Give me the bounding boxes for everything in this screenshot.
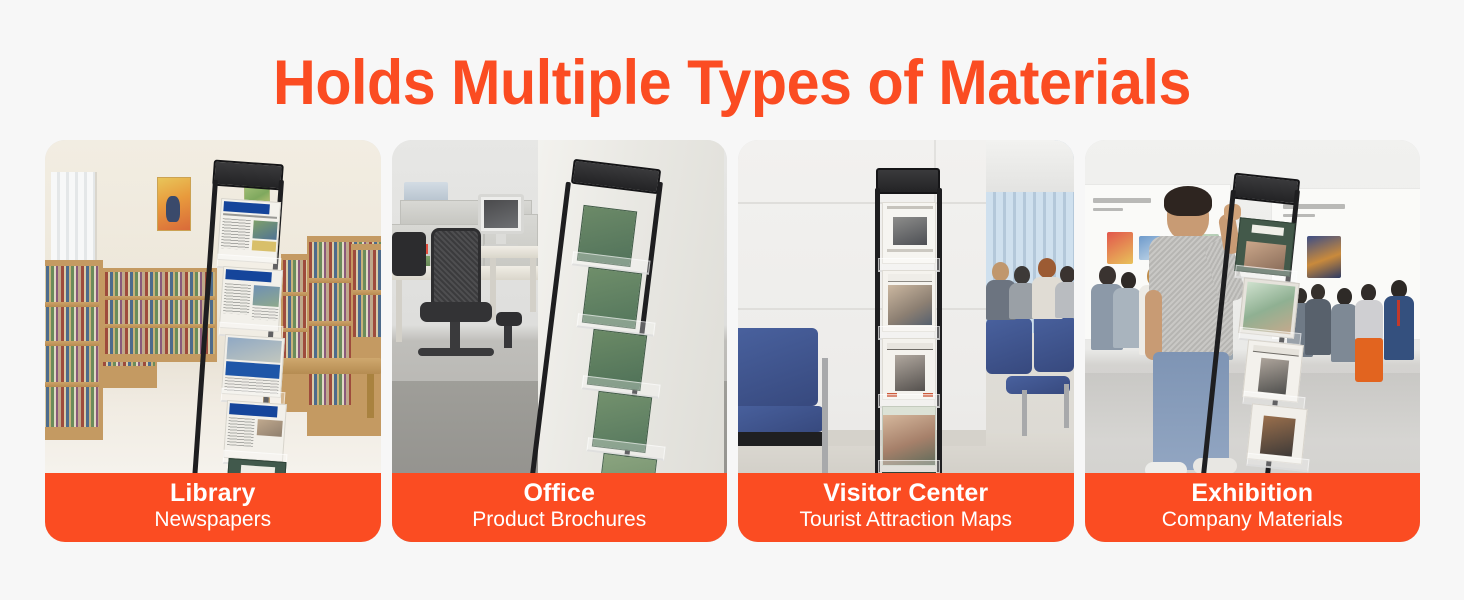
visitor-head-4 xyxy=(1060,266,1074,283)
booth-left-signage-small xyxy=(1093,208,1123,211)
books-left-3 xyxy=(45,346,99,382)
rack-header-panel xyxy=(876,168,940,194)
library-poster-orange xyxy=(157,177,191,231)
office-chair-base xyxy=(418,348,494,356)
blue-chair-frame xyxy=(738,432,824,446)
office-chair-seat xyxy=(420,302,492,322)
books-left-2 xyxy=(45,307,99,341)
literature-map-1 xyxy=(882,202,936,264)
lounge-chair-2 xyxy=(1034,314,1074,372)
caption-subtitle: Newspapers xyxy=(154,507,271,532)
office-chair-far-seat xyxy=(496,312,522,326)
desk-leg xyxy=(396,280,402,342)
attendee-head xyxy=(1337,288,1352,305)
card-office[interactable]: Office Product Brochures xyxy=(392,140,728,542)
caption-visitor-center: Visitor Center Tourist Attraction Maps xyxy=(738,473,1074,542)
caption-title: Visitor Center xyxy=(823,479,988,507)
card-grid: Library Newspapers xyxy=(45,140,1420,542)
books-r3b xyxy=(353,295,381,337)
books-left-4 xyxy=(45,387,99,427)
literature-caroline xyxy=(882,406,936,466)
booth-left-signage xyxy=(1093,198,1151,203)
attendee-torso xyxy=(1355,300,1383,340)
lounge-chair-leg xyxy=(1022,390,1027,436)
lounge-chair-3 xyxy=(1006,376,1070,394)
foreground-man-arm-right xyxy=(1145,290,1162,360)
visitor-head-1 xyxy=(992,262,1009,281)
card-exhibition[interactable]: Exhibition Company Materials xyxy=(1085,140,1421,542)
caption-library: Library Newspapers xyxy=(45,473,381,542)
rack-header-panel xyxy=(570,159,660,195)
books-r3a xyxy=(353,250,381,290)
brochure-rack-visitor-center xyxy=(866,166,952,522)
visitor-center-ceiling xyxy=(986,140,1073,192)
visitor-torso-4 xyxy=(1055,282,1074,318)
brochure-rack-library xyxy=(193,160,297,526)
attendee-torso xyxy=(1113,288,1141,348)
card-library[interactable]: Library Newspapers xyxy=(45,140,381,542)
desk-leg xyxy=(530,258,536,312)
blue-chair-leg xyxy=(822,358,828,482)
lounge-chair-leg xyxy=(1064,384,1069,428)
blue-chair-back xyxy=(738,328,818,406)
office-chair-mesh-back xyxy=(431,228,481,306)
attendee-head xyxy=(1361,284,1376,301)
visitor-head-3 xyxy=(1038,258,1056,278)
office-chair-far-post xyxy=(504,326,512,348)
attendee-lanyard xyxy=(1397,300,1400,326)
foreground-man-hair xyxy=(1164,186,1212,216)
page-title: Holds Multiple Types of Materials xyxy=(44,50,1420,116)
blue-chair-seat xyxy=(738,406,824,432)
rack-header-panel xyxy=(1231,173,1299,206)
caption-title: Library xyxy=(170,479,255,507)
caption-office: Office Product Brochures xyxy=(392,473,728,542)
caption-subtitle: Company Materials xyxy=(1162,507,1343,532)
literature-endless-blessing xyxy=(882,270,936,332)
attendee-head xyxy=(1099,266,1116,285)
caption-title: Office xyxy=(524,479,595,507)
promo-banner: Holds Multiple Types of Materials xyxy=(0,0,1464,600)
caption-exhibition: Exhibition Company Materials xyxy=(1085,473,1421,542)
visitor-head-2 xyxy=(1014,266,1030,284)
caption-subtitle: Product Brochures xyxy=(472,507,646,532)
office-monitor xyxy=(478,194,524,234)
caption-title: Exhibition xyxy=(1191,479,1313,507)
attendee-torso xyxy=(1331,304,1358,362)
caption-subtitle: Tourist Attraction Maps xyxy=(800,507,1012,532)
table-leg xyxy=(367,374,374,418)
office-printer-box xyxy=(404,182,448,202)
attendee-orange-skirt xyxy=(1355,338,1383,382)
booth-left-graphic xyxy=(1107,232,1133,264)
rack-rail-left xyxy=(189,180,218,518)
literature-unconditional xyxy=(882,338,936,400)
books-left-1 xyxy=(45,266,99,302)
lounge-chair-1 xyxy=(986,318,1032,374)
card-visitor-center[interactable]: Visitor Center Tourist Attraction Maps xyxy=(738,140,1074,542)
office-chair-back-row xyxy=(392,232,426,276)
attendee-head xyxy=(1121,272,1136,289)
rack-header-panel xyxy=(212,160,284,191)
